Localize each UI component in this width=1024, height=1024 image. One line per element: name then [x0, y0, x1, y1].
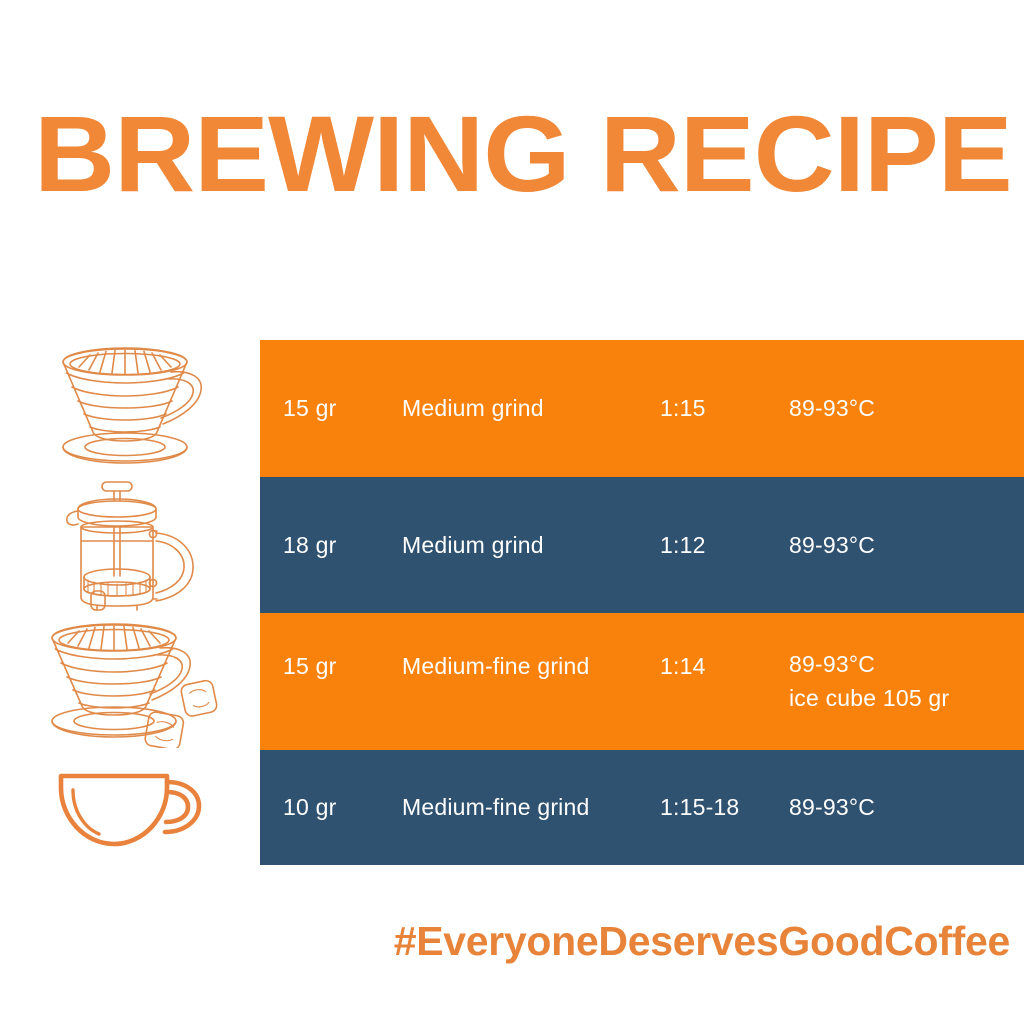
- cell-ratio: 1:12: [660, 532, 789, 559]
- temperature-value: 89-93°C: [789, 794, 875, 820]
- temperature-note: ice cube 105 gr: [789, 685, 1024, 712]
- cell-grind: Medium grind: [402, 395, 660, 422]
- cell-temperature: 89-93°C ice cube 105 gr: [789, 651, 1024, 712]
- cell-ratio: 1:14: [660, 653, 789, 680]
- dripper-shape: [52, 624, 190, 737]
- table-row: 18 gr Medium grind 1:12 89-93°C: [260, 477, 1024, 613]
- brewing-recipe-poster: BREWING RECIPE: [0, 0, 1024, 1024]
- cell-temperature: 89-93°C: [789, 395, 1024, 422]
- table-row: 15 gr Medium-fine grind 1:14 89-93°C ice…: [260, 613, 1024, 750]
- iced-v60-dripper-icon: [38, 616, 223, 748]
- hashtag-tagline: #EveryoneDeservesGoodCoffee: [394, 918, 1010, 964]
- cell-dose: 15 gr: [260, 653, 402, 680]
- french-press-icon: [56, 479, 204, 611]
- page-title: BREWING RECIPE: [34, 98, 1012, 210]
- cell-dose: 15 gr: [260, 395, 402, 422]
- v60-dripper-icon: [45, 346, 215, 471]
- cell-dose: 10 gr: [260, 794, 402, 821]
- cell-ratio: 1:15: [660, 395, 789, 422]
- temperature-value: 89-93°C: [789, 532, 875, 558]
- table-row: 10 gr Medium-fine grind 1:15-18 89-93°C: [260, 750, 1024, 865]
- ice-cube-icon-upper: [180, 679, 218, 717]
- row-icon-coffee-cup: [0, 750, 260, 865]
- coffee-cup-icon: [55, 764, 205, 852]
- table-row: 15 gr Medium grind 1:15 89-93°C: [260, 340, 1024, 477]
- cell-dose: 18 gr: [260, 532, 402, 559]
- row-icon-french-press: [0, 477, 260, 613]
- cell-grind: Medium-fine grind: [402, 653, 660, 680]
- cell-temperature: 89-93°C: [789, 794, 1024, 821]
- temperature-value: 89-93°C: [789, 395, 875, 421]
- recipe-table: 15 gr Medium grind 1:15 89-93°C 18 gr Me…: [260, 340, 1024, 865]
- temperature-value: 89-93°C: [789, 651, 875, 677]
- row-icon-iced-v60-dripper: [0, 613, 260, 750]
- cell-ratio: 1:15-18: [660, 794, 789, 821]
- cell-grind: Medium-fine grind: [402, 794, 660, 821]
- cell-temperature: 89-93°C: [789, 532, 1024, 559]
- row-icon-v60-dripper: [0, 340, 260, 477]
- cell-grind: Medium grind: [402, 532, 660, 559]
